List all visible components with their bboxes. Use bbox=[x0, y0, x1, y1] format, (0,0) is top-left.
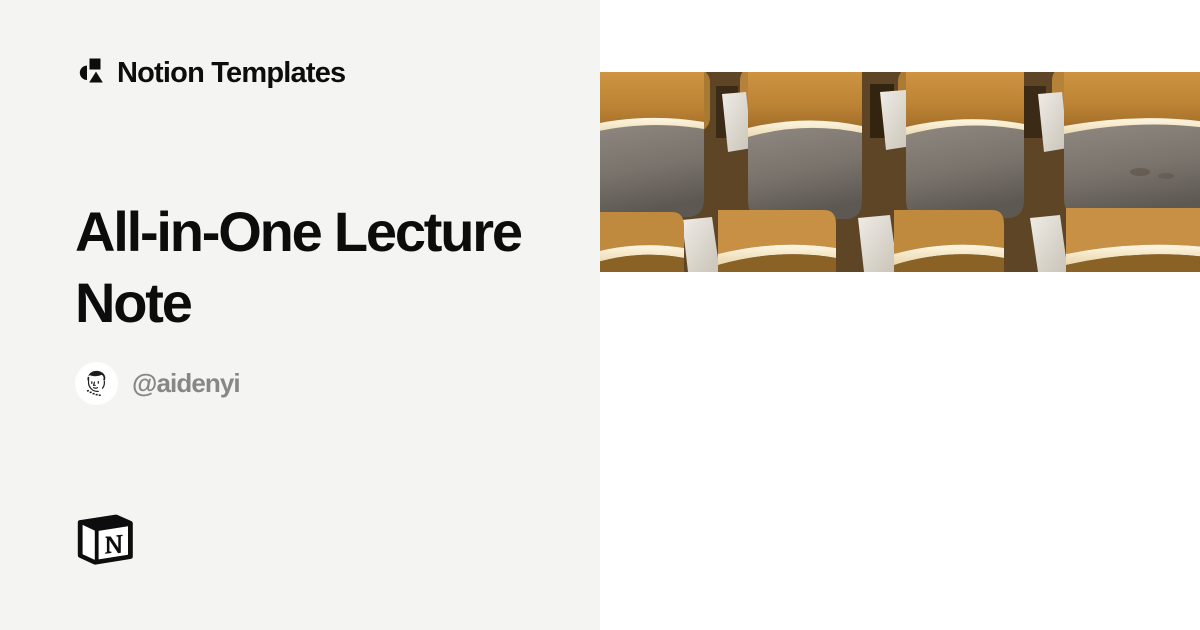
author-byline[interactable]: @aidenyi bbox=[75, 362, 240, 405]
brand-header[interactable]: Notion Templates bbox=[75, 58, 345, 88]
notion-page-preview: All-in-One Lecture Note Lecture Notes bbox=[600, 0, 1200, 630]
left-info-panel: Notion Templates All-in-One Lecture Note bbox=[0, 0, 600, 630]
page-title: All-in-One Lecture Note bbox=[75, 196, 555, 338]
avatar bbox=[75, 362, 118, 405]
author-handle: @aidenyi bbox=[132, 368, 240, 399]
notion-cube-logo-icon bbox=[75, 511, 135, 567]
notion-templates-shapes-logo-icon bbox=[75, 58, 105, 88]
template-preview-page: Notion Templates All-in-One Lecture Note bbox=[0, 0, 1200, 630]
brand-label: Notion Templates bbox=[117, 59, 345, 88]
lecture-hall-seats-photo-icon bbox=[600, 72, 1200, 272]
